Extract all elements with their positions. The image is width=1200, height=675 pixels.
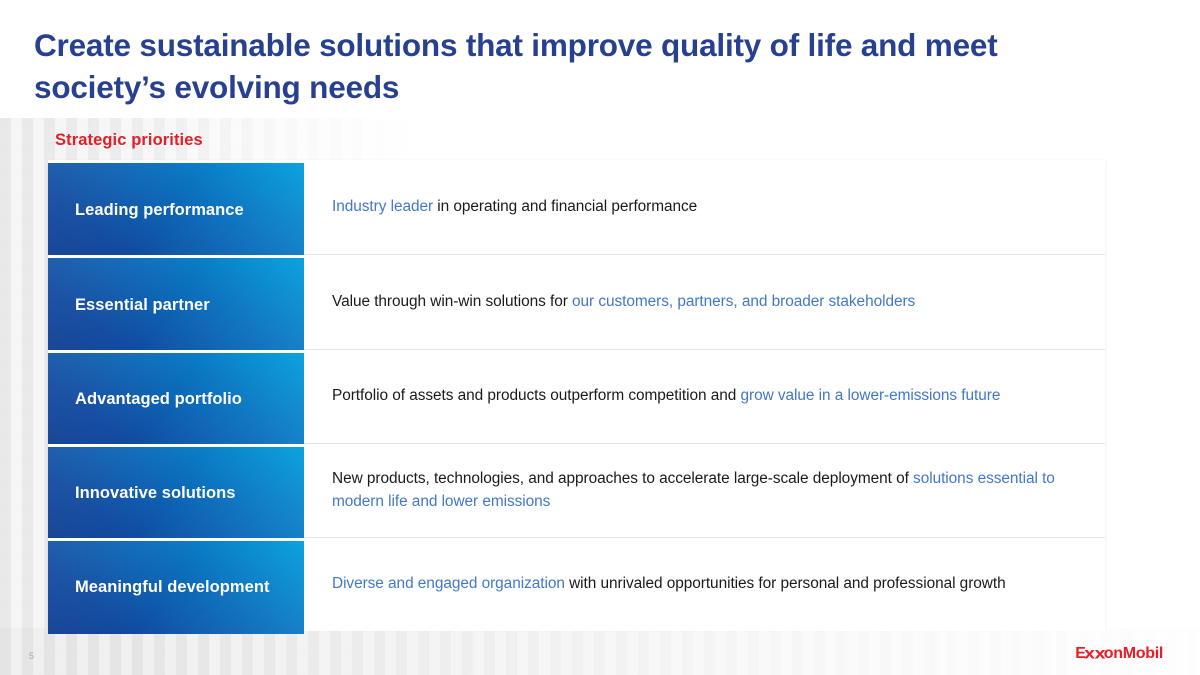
priority-description: Portfolio of assets and products outperf…	[332, 385, 1000, 407]
table-row[interactable]: Leading performance Industry leader in o…	[48, 160, 1105, 255]
priority-description-cell: Industry leader in operating and financi…	[304, 160, 1105, 254]
priority-tile-wrap: Essential partner	[48, 255, 304, 349]
priority-description-plain: with unrivaled opportunities for persona…	[565, 575, 1006, 592]
priority-description: New products, technologies, and approach…	[332, 468, 1087, 513]
priority-label: Leading performance	[75, 200, 244, 221]
priority-description-plain: Portfolio of assets and products outperf…	[332, 387, 741, 404]
priority-label: Meaningful development	[75, 577, 270, 598]
table-row[interactable]: Advantaged portfolio Portfolio of assets…	[48, 350, 1105, 444]
table-row[interactable]: Innovative solutions New products, techn…	[48, 444, 1105, 538]
priority-label: Innovative solutions	[75, 483, 236, 504]
priority-description-plain: New products, technologies, and approach…	[332, 470, 913, 487]
exxonmobil-logo: ExxonMobil	[1075, 645, 1163, 663]
priority-label: Essential partner	[75, 295, 210, 316]
priority-tile[interactable]: Meaningful development	[48, 541, 304, 634]
slide-canvas: Create sustainable solutions that improv…	[0, 0, 1200, 675]
priority-description-cell: New products, technologies, and approach…	[304, 444, 1105, 537]
logo-part-2: onMobil	[1104, 645, 1163, 662]
priority-description-highlight: Industry leader	[332, 198, 433, 215]
priority-description-plain: in operating and financial performance	[433, 198, 697, 215]
priority-tile-wrap: Advantaged portfolio	[48, 350, 304, 443]
priority-label: Advantaged portfolio	[75, 389, 242, 410]
priority-tile[interactable]: Essential partner	[48, 258, 304, 352]
background-texture-bottom	[0, 628, 1200, 675]
priority-description-highlight: grow value in a lower-emissions future	[741, 387, 1001, 404]
priority-description: Diverse and engaged organization with un…	[332, 573, 1006, 595]
priority-tile-wrap: Meaningful development	[48, 538, 304, 631]
priority-tile[interactable]: Advantaged portfolio	[48, 353, 304, 446]
priority-tile[interactable]: Innovative solutions	[48, 447, 304, 540]
priority-description: Industry leader in operating and financi…	[332, 196, 697, 218]
priority-description-cell: Value through win-win solutions for our …	[304, 255, 1105, 349]
priority-tile-wrap: Innovative solutions	[48, 444, 304, 537]
priority-description: Value through win-win solutions for our …	[332, 291, 915, 313]
strategic-priorities-table: Leading performance Industry leader in o…	[48, 160, 1105, 628]
priority-description-highlight: our customers, partners, and broader sta…	[572, 293, 915, 310]
priority-description-cell: Portfolio of assets and products outperf…	[304, 350, 1105, 443]
priority-tile[interactable]: Leading performance	[48, 163, 304, 257]
priority-tile-wrap: Leading performance	[48, 160, 304, 254]
priority-description-highlight: Diverse and engaged organization	[332, 575, 565, 592]
table-row[interactable]: Essential partner Value through win-win …	[48, 255, 1105, 350]
priority-description-plain: Value through win-win solutions for	[332, 293, 572, 310]
logo-double-x: xx	[1084, 646, 1105, 664]
priority-description-cell: Diverse and engaged organization with un…	[304, 538, 1105, 631]
section-label-strategic-priorities: Strategic priorities	[55, 131, 203, 150]
page-number: 5	[29, 651, 34, 661]
page-title: Create sustainable solutions that improv…	[34, 24, 1054, 108]
table-row[interactable]: Meaningful development Diverse and engag…	[48, 538, 1105, 631]
